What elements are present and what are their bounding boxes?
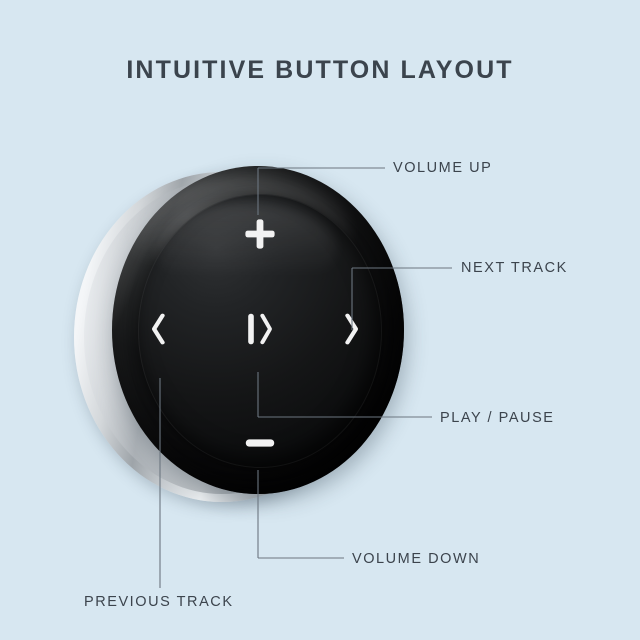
plus-icon [242,216,278,252]
play-pause-icon [243,312,277,346]
chevron-left-icon [147,312,169,346]
next-track-button[interactable] [332,305,372,353]
previous-track-button[interactable] [138,305,178,353]
callout-previous-track: PREVIOUS TRACK [84,594,234,610]
volume-down-button[interactable] [238,428,282,458]
callout-volume-down: VOLUME DOWN [352,551,480,567]
page-title: INTUITIVE BUTTON LAYOUT [0,56,640,85]
callout-next-track: NEXT TRACK [461,260,568,276]
round-media-remote [60,150,410,520]
minus-icon [245,437,275,449]
infographic-canvas: INTUITIVE BUTTON LAYOUT [0,0,640,640]
play-pause-button[interactable] [236,305,284,353]
chevron-right-icon [341,312,363,346]
callout-play-pause: PLAY / PAUSE [440,410,555,426]
volume-up-button[interactable] [238,212,282,256]
callout-volume-up: VOLUME UP [393,160,492,176]
